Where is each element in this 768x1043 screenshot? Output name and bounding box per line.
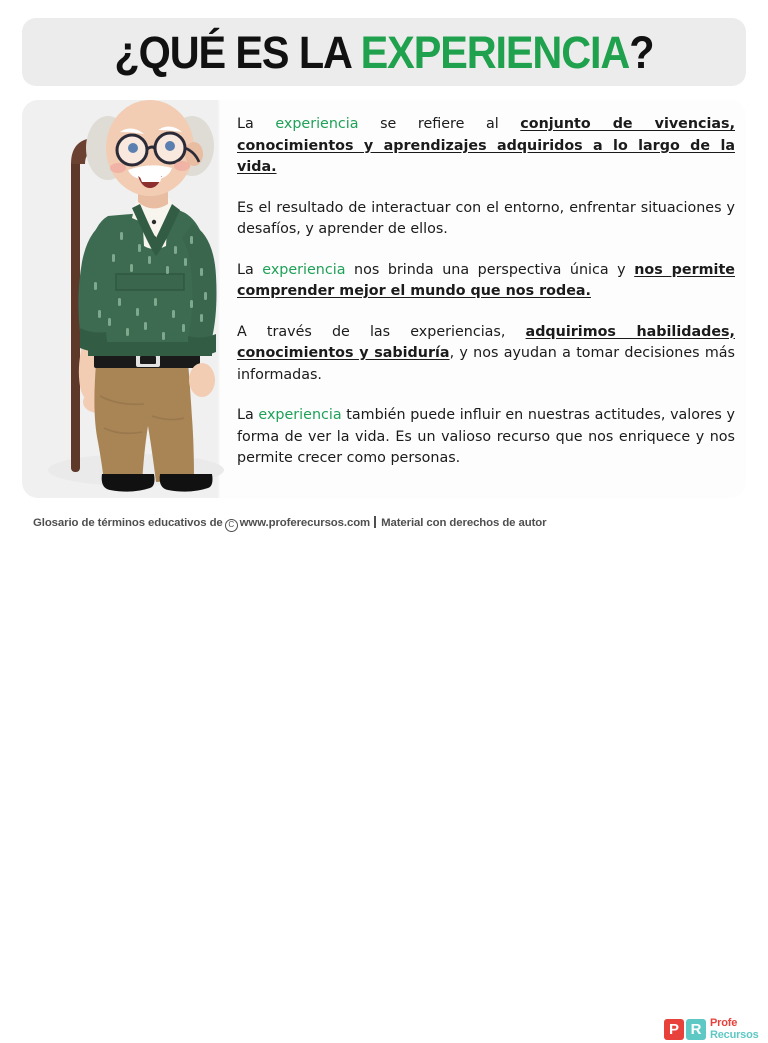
- paragraph-1: La experiencia se refiere al conjunto de…: [237, 114, 735, 179]
- proferecursos-logo[interactable]: P R Profe Recursos: [664, 1017, 760, 1043]
- eye-right: [165, 141, 175, 151]
- belt-buckle-inner: [140, 356, 156, 364]
- paragraph-4: A través de las experiencias, adquirimos…: [237, 322, 735, 387]
- copyright-icon: C: [225, 519, 238, 532]
- run-text: La: [237, 407, 258, 423]
- title-suffix: ?: [629, 27, 653, 78]
- keyword-experiencia: experiencia: [275, 116, 358, 132]
- keyword-experiencia: experiencia: [262, 262, 345, 278]
- title-plain: ¿QUÉ ES LA: [115, 27, 361, 78]
- paragraph-5: La experiencia también puede influir en …: [237, 405, 735, 470]
- body-copy: La experiencia se refiere al conjunto de…: [237, 114, 735, 470]
- logo-square-p: P: [664, 1019, 684, 1040]
- keyword-experiencia: experiencia: [258, 407, 341, 423]
- illustration-elderly-man: [24, 96, 234, 500]
- shoe-right: [160, 474, 213, 492]
- infographic-page: ¿QUÉ ES LA EXPERIENCIA?: [0, 0, 768, 543]
- sweater-hem: [88, 342, 212, 356]
- logo-square-r: R: [686, 1019, 706, 1040]
- footer-site-url[interactable]: www.proferecursos.com: [240, 517, 370, 529]
- shirt-button-1: [152, 220, 156, 224]
- shoe-left: [102, 474, 155, 492]
- footer-bar: Glosario de términos educativos deCwww.p…: [0, 505, 768, 543]
- logo-word-recursos: Recursos: [710, 1030, 759, 1042]
- logo-word-profe: Profe: [710, 1018, 759, 1030]
- cheek-right: [174, 161, 190, 171]
- sweater-pocket: [116, 274, 184, 290]
- footer-text-before: Glosario de términos educativos de: [33, 517, 223, 529]
- title-highlight: EXPERIENCIA: [361, 27, 630, 78]
- footer-credit: Glosario de términos educativos deCwww.p…: [33, 516, 546, 532]
- paragraph-3: La experiencia nos brinda una perspectiv…: [237, 260, 735, 303]
- logo-wordmark: Profe Recursos: [710, 1018, 759, 1041]
- run-text: La: [237, 116, 275, 132]
- run-text: se refiere al: [359, 116, 521, 132]
- eye-left: [128, 143, 138, 153]
- paragraph-2: Es el resultado de interactuar con el en…: [237, 198, 735, 241]
- run-text: nos brinda una perspectiva única y: [345, 262, 634, 278]
- cheek-left: [110, 163, 126, 173]
- run-text: La: [237, 262, 262, 278]
- page-title: ¿QUÉ ES LA EXPERIENCIA?: [115, 30, 654, 75]
- footer-separator: [374, 516, 376, 528]
- run-text: Es el resultado de interactuar con el en…: [237, 200, 735, 238]
- right-hand: [189, 363, 215, 397]
- teeth: [140, 177, 162, 182]
- footer-text-after: Material con derechos de autor: [381, 517, 546, 529]
- run-text: A través de las experiencias,: [237, 324, 526, 340]
- cane-shaft: [71, 160, 80, 472]
- title-bar: ¿QUÉ ES LA EXPERIENCIA?: [22, 18, 746, 86]
